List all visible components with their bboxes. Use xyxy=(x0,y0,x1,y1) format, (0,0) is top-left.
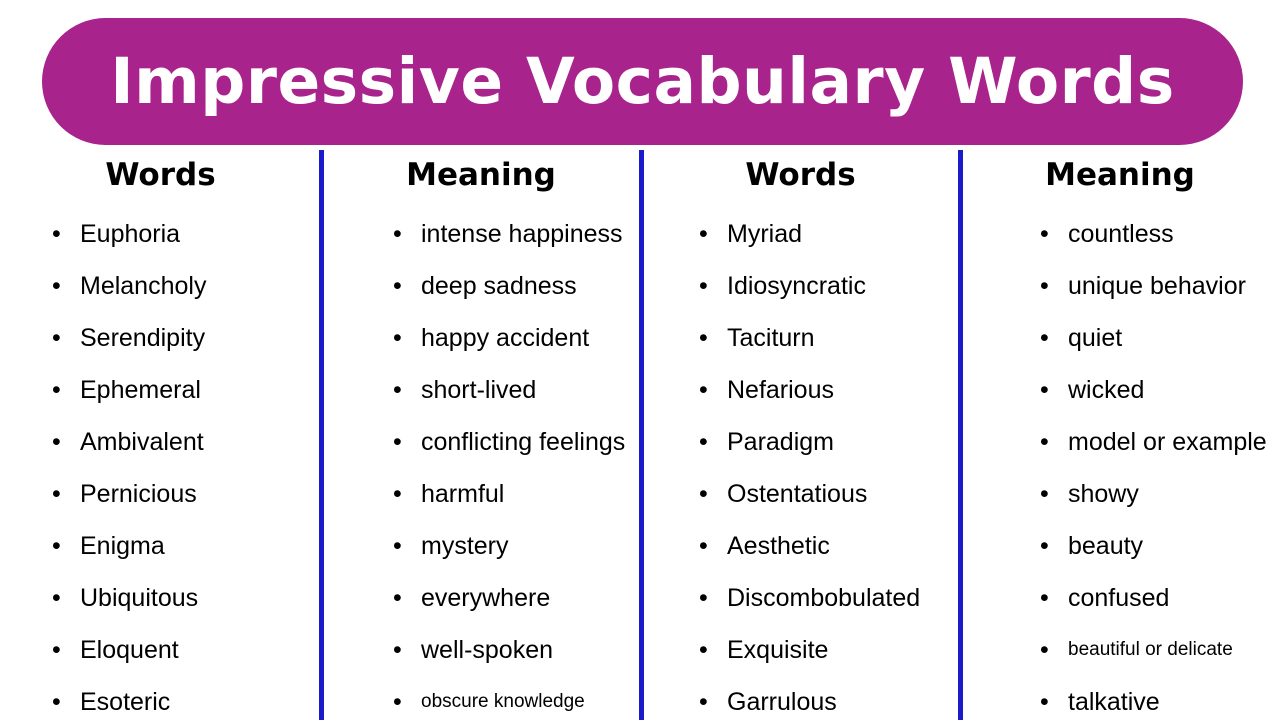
list-item: •Ambivalent xyxy=(0,416,321,468)
list-item: •Nefarious xyxy=(641,364,960,416)
list-item: •talkative xyxy=(960,676,1280,728)
bullet-icon: • xyxy=(1040,364,1049,416)
list-item: •Euphoria xyxy=(0,208,321,260)
list-item: •Garrulous xyxy=(641,676,960,728)
list-item-label: unique behavior xyxy=(1068,260,1246,312)
list-item: •model or example xyxy=(960,416,1280,468)
list-item-label: Serendipity xyxy=(80,312,205,364)
bullet-icon: • xyxy=(52,364,61,416)
list-item: •countless xyxy=(960,208,1280,260)
meaning-list-1: •intense happiness •deep sadness •happy … xyxy=(321,208,641,728)
list-item: •well-spoken xyxy=(321,624,641,676)
bullet-icon: • xyxy=(699,676,708,728)
bullet-icon: • xyxy=(393,416,402,468)
list-item-label: Garrulous xyxy=(727,676,837,728)
list-item: •Taciturn xyxy=(641,312,960,364)
list-item-label: Pernicious xyxy=(80,468,197,520)
list-item-label: Eloquent xyxy=(80,624,179,676)
list-item-label: well-spoken xyxy=(421,624,553,676)
list-item-label: happy accident xyxy=(421,312,589,364)
list-item: •Esoteric xyxy=(0,676,321,728)
list-item-label: Euphoria xyxy=(80,208,180,260)
bullet-icon: • xyxy=(393,572,402,624)
list-item-label: Myriad xyxy=(727,208,802,260)
list-item-label: Taciturn xyxy=(727,312,815,364)
bullet-icon: • xyxy=(52,416,61,468)
list-item: •Ostentatious xyxy=(641,468,960,520)
list-item-label: Discombobulated xyxy=(727,572,920,624)
column-words-2: Words •Myriad •Idiosyncratic •Taciturn •… xyxy=(641,150,960,720)
bullet-icon: • xyxy=(699,572,708,624)
bullet-icon: • xyxy=(393,468,402,520)
list-item-label: Ostentatious xyxy=(727,468,867,520)
bullet-icon: • xyxy=(699,624,708,676)
column-header-words-2: Words xyxy=(641,160,1000,191)
list-item: •confused xyxy=(960,572,1280,624)
bullet-icon: • xyxy=(1040,624,1049,676)
list-item: •Paradigm xyxy=(641,416,960,468)
column-words-1: Words •Euphoria •Melancholy •Serendipity… xyxy=(0,150,321,720)
list-item: •obscure knowledge xyxy=(321,676,641,728)
list-item-label: quiet xyxy=(1068,312,1122,364)
list-item-label: beauty xyxy=(1068,520,1143,572)
list-item-label: intense happiness xyxy=(421,208,623,260)
list-item: •Myriad xyxy=(641,208,960,260)
bullet-icon: • xyxy=(1040,312,1049,364)
list-item: •beautiful or delicate xyxy=(960,624,1280,676)
list-item: •conflicting feelings xyxy=(321,416,641,468)
list-item: •everywhere xyxy=(321,572,641,624)
list-item-label: Nefarious xyxy=(727,364,834,416)
bullet-icon: • xyxy=(52,312,61,364)
list-item-label: beautiful or delicate xyxy=(1068,624,1233,676)
list-item: •Idiosyncratic xyxy=(641,260,960,312)
bullet-icon: • xyxy=(393,208,402,260)
column-header-words-1: Words xyxy=(0,160,323,191)
bullet-icon: • xyxy=(699,364,708,416)
list-item: •mystery xyxy=(321,520,641,572)
bullet-icon: • xyxy=(52,468,61,520)
list-item: •Eloquent xyxy=(0,624,321,676)
meaning-list-2: •countless •unique behavior •quiet •wick… xyxy=(960,208,1280,728)
list-item: •Enigma xyxy=(0,520,321,572)
list-item: •Ubiquitous xyxy=(0,572,321,624)
list-item-label: Ephemeral xyxy=(80,364,201,416)
list-item-label: everywhere xyxy=(421,572,550,624)
list-item-label: conflicting feelings xyxy=(421,416,625,468)
list-item-label: Aesthetic xyxy=(727,520,830,572)
column-header-meaning-1: Meaning xyxy=(321,160,671,191)
list-item-label: deep sadness xyxy=(421,260,577,312)
list-item-label: Enigma xyxy=(80,520,165,572)
column-meaning-2: Meaning •countless •unique behavior •qui… xyxy=(960,150,1280,720)
bullet-icon: • xyxy=(52,572,61,624)
list-item: •intense happiness xyxy=(321,208,641,260)
list-item: •Serendipity xyxy=(0,312,321,364)
bullet-icon: • xyxy=(52,520,61,572)
list-item-label: Ambivalent xyxy=(80,416,204,468)
list-item-label: short-lived xyxy=(421,364,536,416)
column-meaning-1: Meaning •intense happiness •deep sadness… xyxy=(321,150,641,720)
list-item-label: Idiosyncratic xyxy=(727,260,866,312)
bullet-icon: • xyxy=(393,364,402,416)
bullet-icon: • xyxy=(1040,676,1049,728)
bullet-icon: • xyxy=(393,520,402,572)
bullet-icon: • xyxy=(393,624,402,676)
list-item: •short-lived xyxy=(321,364,641,416)
bullet-icon: • xyxy=(393,260,402,312)
list-item-label: wicked xyxy=(1068,364,1144,416)
bullet-icon: • xyxy=(52,624,61,676)
list-item-label: Exquisite xyxy=(727,624,828,676)
word-list-2: •Myriad •Idiosyncratic •Taciturn •Nefari… xyxy=(641,208,960,728)
list-item-label: countless xyxy=(1068,208,1174,260)
bullet-icon: • xyxy=(699,208,708,260)
list-item-label: Melancholy xyxy=(80,260,206,312)
list-item-label: mystery xyxy=(421,520,509,572)
list-item-label: Ubiquitous xyxy=(80,572,198,624)
bullet-icon: • xyxy=(1040,572,1049,624)
bullet-icon: • xyxy=(1040,520,1049,572)
bullet-icon: • xyxy=(393,312,402,364)
list-item: •deep sadness xyxy=(321,260,641,312)
bullet-icon: • xyxy=(699,312,708,364)
title-banner: Impressive Vocabulary Words xyxy=(42,18,1243,145)
list-item-label: confused xyxy=(1068,572,1169,624)
bullet-icon: • xyxy=(699,260,708,312)
list-item-label: Esoteric xyxy=(80,676,170,728)
bullet-icon: • xyxy=(1040,208,1049,260)
list-item: •Pernicious xyxy=(0,468,321,520)
bullet-icon: • xyxy=(1040,416,1049,468)
bullet-icon: • xyxy=(52,676,61,728)
list-item-label: model or example xyxy=(1068,416,1267,468)
bullet-icon: • xyxy=(52,208,61,260)
word-list-1: •Euphoria •Melancholy •Serendipity •Ephe… xyxy=(0,208,321,728)
list-item: •Melancholy xyxy=(0,260,321,312)
bullet-icon: • xyxy=(699,416,708,468)
bullet-icon: • xyxy=(699,468,708,520)
list-item: •happy accident xyxy=(321,312,641,364)
bullet-icon: • xyxy=(52,260,61,312)
list-item: •unique behavior xyxy=(960,260,1280,312)
list-item: •quiet xyxy=(960,312,1280,364)
list-item: •Ephemeral xyxy=(0,364,321,416)
list-item-label: talkative xyxy=(1068,676,1160,728)
list-item-label: showy xyxy=(1068,468,1139,520)
bullet-icon: • xyxy=(1040,260,1049,312)
list-item: •Discombobulated xyxy=(641,572,960,624)
list-item-label: obscure knowledge xyxy=(421,676,585,728)
list-item: •wicked xyxy=(960,364,1280,416)
list-item-label: Paradigm xyxy=(727,416,834,468)
vocabulary-table: Words •Euphoria •Melancholy •Serendipity… xyxy=(0,150,1280,720)
list-item: •Exquisite xyxy=(641,624,960,676)
bullet-icon: • xyxy=(393,676,402,728)
bullet-icon: • xyxy=(699,520,708,572)
list-item: •showy xyxy=(960,468,1280,520)
list-item-label: harmful xyxy=(421,468,504,520)
list-item: •beauty xyxy=(960,520,1280,572)
column-header-meaning-2: Meaning xyxy=(960,160,1280,191)
list-item: •harmful xyxy=(321,468,641,520)
list-item: •Aesthetic xyxy=(641,520,960,572)
bullet-icon: • xyxy=(1040,468,1049,520)
page-title: Impressive Vocabulary Words xyxy=(110,50,1175,113)
